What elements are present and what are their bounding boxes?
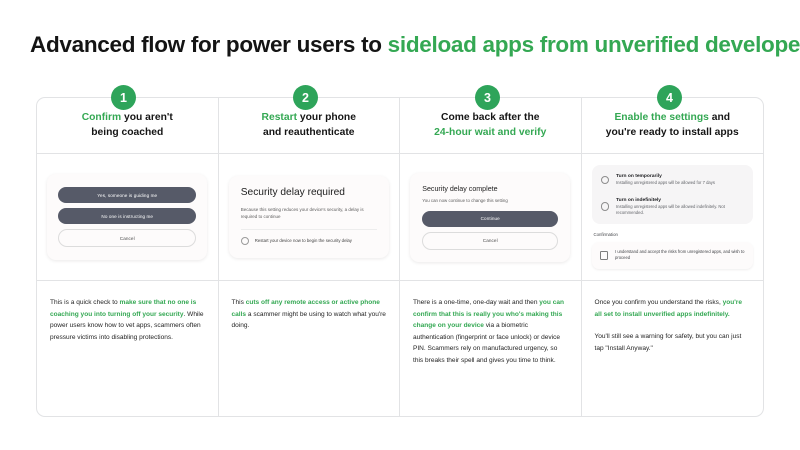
mockup-cell-2: Security delay required Because this set… [219, 154, 401, 281]
turn-on-indefinitely-title: Turn on indefinitely [616, 197, 744, 204]
column-header-3-plain: Come back after the [441, 112, 539, 123]
column-header-1-text: Confirm you aren't being coached [82, 111, 173, 140]
description-3: There is a one-time, one-day wait and th… [413, 297, 568, 367]
step-badge-1: 1 [111, 85, 136, 110]
radio-icon[interactable] [601, 176, 610, 185]
description-cell-1: This is a quick check to make sure that … [37, 281, 219, 416]
description-cell-3: There is a one-time, one-day wait and th… [400, 281, 582, 416]
column-header-2-text: Restart your phone and reauthenticate [262, 111, 356, 140]
turn-on-indefinitely-texts: Turn on indefinitely Installing unregist… [616, 197, 744, 216]
column-header-1-plain: you aren't [121, 112, 173, 123]
security-delay-body: Because this setting reduces your device… [241, 206, 377, 220]
description-2-b: a scammer might be using to watch what y… [232, 311, 386, 330]
steps-grid: Confirm you aren't being coached Restart… [36, 97, 764, 417]
turn-on-indefinitely-option[interactable]: Turn on indefinitely Installing unregist… [601, 197, 745, 216]
turn-on-temporarily-texts: Turn on temporarily Installing unregiste… [616, 173, 715, 186]
checkbox-icon[interactable] [600, 251, 609, 260]
column-header-4-accent: Enable the settings [614, 112, 708, 123]
column-header-4-plain: and [709, 112, 730, 123]
delay-complete-heading: Security delay complete [422, 185, 558, 193]
cancel-button[interactable]: Cancel [58, 229, 196, 247]
yes-guiding-button[interactable]: Yes, someone is guiding me [58, 187, 196, 203]
install-settings-panel: Turn on temporarily Installing unregiste… [592, 165, 754, 268]
cancel-button[interactable]: Cancel [422, 232, 558, 250]
security-delay-heading: Security delay required [241, 187, 377, 200]
column-header-2-accent: Restart [262, 112, 297, 123]
radio-icon[interactable] [601, 202, 610, 211]
turn-on-temporarily-option[interactable]: Turn on temporarily Installing unregiste… [601, 173, 745, 186]
restart-option-label: Restart your device now to begin the sec… [255, 238, 352, 244]
description-1: This is a quick check to make sure that … [50, 297, 205, 343]
delay-complete-dialog: Security delay complete You can now cont… [410, 173, 570, 262]
column-header-4-text: Enable the settings and you're ready to … [606, 111, 739, 140]
security-delay-dialog: Security delay required Because this set… [229, 176, 389, 259]
no-one-instructing-button[interactable]: No one is instructing me [58, 208, 196, 224]
restart-option-row[interactable]: Restart your device now to begin the sec… [241, 229, 377, 245]
radio-icon[interactable] [241, 237, 249, 245]
description-4-a: Once you confirm you understand the risk… [595, 299, 723, 306]
confirmation-text: I understand and accept the risks from u… [615, 249, 745, 262]
step-badge-3: 3 [475, 85, 500, 110]
page-title-lead: Advanced flow for power users to [30, 32, 388, 57]
step-badge-4: 4 [657, 85, 682, 110]
delay-complete-body: You can now continue to change this sett… [422, 198, 558, 203]
description-4-second: You'll still see a warning for safety, b… [595, 331, 751, 354]
page-title-accent: sideload apps from unverified developers [388, 32, 800, 57]
column-header-3-text: Come back after the 24-hour wait and ver… [434, 111, 546, 140]
turn-on-temporarily-desc: Installing unregistered apps will be all… [616, 180, 715, 186]
mockup-cell-1: Yes, someone is guiding me No one is ins… [37, 154, 219, 281]
column-header-4-line2: you're ready to install apps [606, 127, 739, 138]
turn-on-options-card: Turn on temporarily Installing unregiste… [592, 165, 754, 224]
column-header-3-line2: 24-hour wait and verify [434, 127, 546, 138]
description-cell-4: Once you confirm you understand the risk… [582, 281, 764, 416]
description-2: This cuts off any remote access or activ… [232, 297, 387, 332]
mockup-cell-3: Security delay complete You can now cont… [400, 154, 582, 281]
turn-on-indefinitely-desc: Installing unregistered apps will be all… [616, 204, 744, 216]
description-cell-2: This cuts off any remote access or activ… [219, 281, 401, 416]
confirm-coaching-sheet: Yes, someone is guiding me No one is ins… [47, 174, 207, 260]
confirmation-checkbox-row[interactable]: I understand and accept the risks from u… [592, 242, 754, 269]
description-4: Once you confirm you understand the risk… [595, 297, 751, 320]
step-badge-2: 2 [293, 85, 318, 110]
confirmation-label: Confirmation [594, 232, 754, 237]
column-header-1-accent: Confirm [82, 112, 121, 123]
description-3-a: There is a one-time, one-day wait and th… [413, 299, 539, 306]
page-title: Advanced flow for power users to sideloa… [30, 32, 775, 58]
column-header-1-line2: being coached [91, 127, 163, 138]
column-header-2-plain: your phone [297, 112, 356, 123]
description-1-a: This is a quick check to [50, 299, 120, 306]
turn-on-temporarily-title: Turn on temporarily [616, 173, 715, 180]
mockup-cell-4: Turn on temporarily Installing unregiste… [582, 154, 764, 281]
continue-button[interactable]: Continue [422, 211, 558, 227]
column-header-2-line2: and reauthenticate [263, 127, 355, 138]
infographic-page: Advanced flow for power users to sideloa… [0, 0, 800, 450]
description-2-a: This [232, 299, 246, 306]
